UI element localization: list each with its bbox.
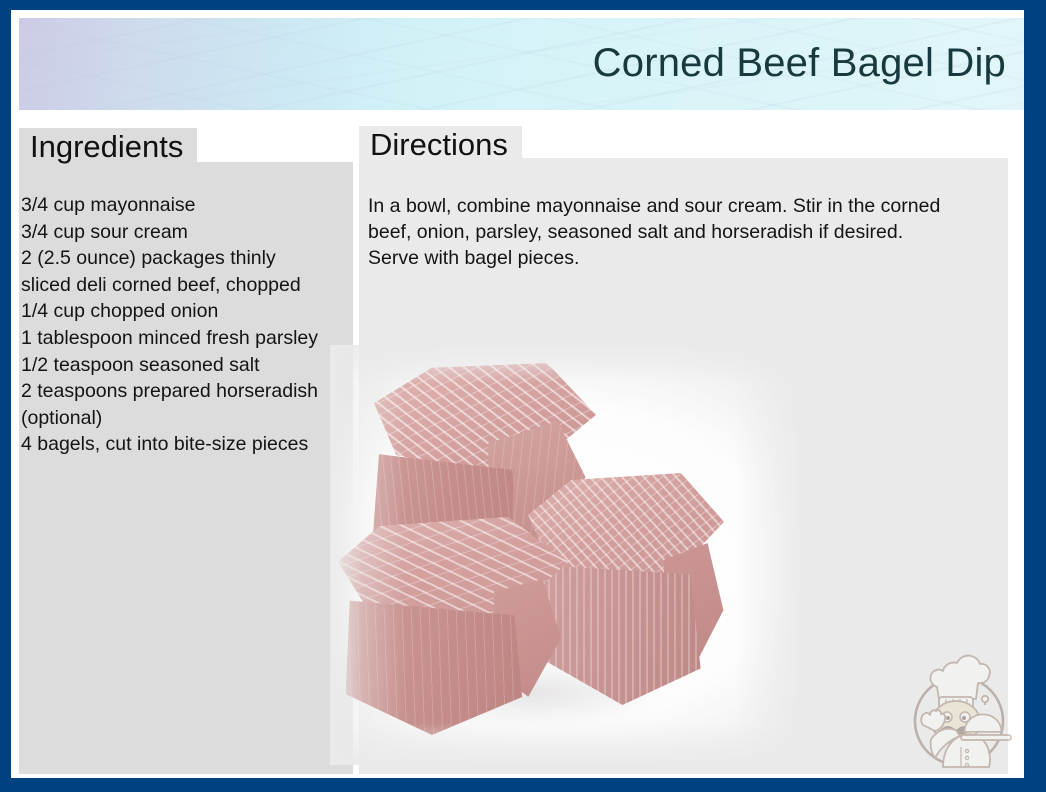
- corned-beef-photo: [330, 345, 800, 765]
- list-item: 3/4 cup sour cream: [21, 219, 361, 246]
- list-item: (optional): [21, 405, 361, 432]
- list-item: 1 tablespoon minced fresh parsley: [21, 325, 361, 352]
- list-item: sliced deli corned beef, chopped: [21, 272, 361, 299]
- beef-cube-front: [334, 517, 572, 735]
- list-item: 1/2 teaspoon seasoned salt: [21, 352, 361, 379]
- slide-border-left: [0, 0, 11, 792]
- directions-heading: Directions: [359, 126, 522, 167]
- directions-line: Serve with bagel pieces.: [368, 246, 1004, 272]
- chef-logo-icon: [903, 643, 1015, 777]
- slide-border-right: [1024, 0, 1046, 792]
- recipe-slide: Corned Beef Bagel Dip Ingredients 3/4 cu…: [0, 0, 1046, 792]
- directions-line: In a bowl, combine mayonnaise and sour c…: [368, 194, 1004, 220]
- list-item: 3/4 cup mayonnaise: [21, 192, 361, 219]
- title-banner: Corned Beef Bagel Dip: [19, 18, 1024, 110]
- ingredients-heading: Ingredients: [19, 128, 197, 169]
- slide-border-top: [0, 0, 1046, 10]
- list-item: 2 (2.5 ounce) packages thinly: [21, 245, 361, 272]
- slide-border-bottom: [0, 778, 1046, 792]
- ingredients-list: 3/4 cup mayonnaise 3/4 cup sour cream 2 …: [21, 192, 361, 458]
- list-item: 4 bagels, cut into bite-size pieces: [21, 431, 361, 458]
- directions-line: beef, onion, parsley, seasoned salt and …: [368, 220, 1004, 246]
- page-title: Corned Beef Bagel Dip: [593, 43, 1006, 83]
- directions-body: In a bowl, combine mayonnaise and sour c…: [368, 194, 1004, 271]
- list-item: 2 teaspoons prepared horseradish: [21, 378, 361, 405]
- list-item: 1/4 cup chopped onion: [21, 298, 361, 325]
